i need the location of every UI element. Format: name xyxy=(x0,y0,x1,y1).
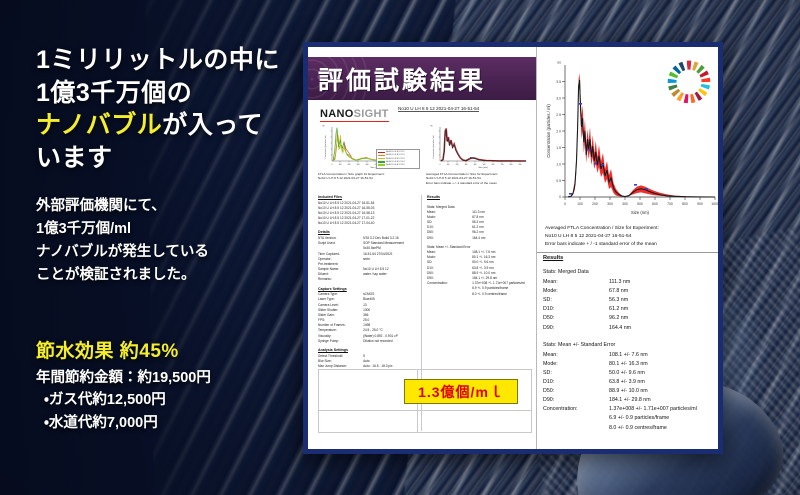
mini2-errorband xyxy=(441,129,526,162)
chart-y-axis-label: Concentration (particles / ml) xyxy=(546,104,551,158)
headline-line-1: 1ミリリットルの中に xyxy=(36,44,301,77)
mini2-y-exponent: E6 xyxy=(431,126,433,128)
chart-x-axis-label: Size (nm) xyxy=(631,210,650,215)
mini-charts-row: E6 Size (nm) Concentration (particles / … xyxy=(318,123,530,183)
detail-result-row-concentration: Concentration:1.37e+008 +/- 1.71e+007 pa… xyxy=(543,405,723,414)
svg-text:400: 400 xyxy=(622,202,628,206)
savings-water: ・水道代約7,000円 xyxy=(36,412,316,434)
detail-results-body: Stats: Merged Data Mean:111.3 nm Mode:67… xyxy=(543,269,723,433)
detail-row: Remarks: xyxy=(318,277,416,282)
subcopy-line-4: ことが検証されました。 xyxy=(36,264,301,287)
detail-result-row: D90:164.4 nm xyxy=(543,324,723,333)
legend-label: No10 U LH 8 5 12-1 xyxy=(386,151,404,153)
section-included-files-title: Included Files xyxy=(318,195,416,199)
svg-text:900: 900 xyxy=(697,202,703,206)
svg-text:3.0: 3.0 xyxy=(556,96,561,100)
savings-title: 節水効果 約45% xyxy=(36,336,316,363)
section-results-title: Results xyxy=(427,195,525,199)
legend-label: No10 U LH 8 5 12-5 xyxy=(386,164,404,166)
result-row: 8.0 +/- 0.9 centres/frame xyxy=(427,292,525,297)
detail-result-row: D50:96.2 nm xyxy=(543,314,723,323)
savings-gas: ・ガス代約12,500円 xyxy=(36,389,316,411)
headline-line-4: います xyxy=(36,142,301,175)
legend-label: No10 U LH 8 5 12-2 xyxy=(386,154,404,156)
headline-line-2: 1億3千万個の xyxy=(36,77,301,110)
mini-chart-legend: No10 U LH 8 5 12-1 No10 U LH 8 5 12-2 No… xyxy=(376,149,420,169)
main-caption-line1: Averaged FTLA Concentration / Size for E… xyxy=(545,225,723,233)
svg-text:900: 900 xyxy=(519,164,522,166)
svg-text:100: 100 xyxy=(577,202,583,206)
detail-se-title: Stats: Mean +/- Standard Error xyxy=(543,342,723,348)
section-capture-settings-title: Capture Settings xyxy=(318,287,416,291)
mini-chart-averaged-svg: E6 Size (nm) Concentration (particles / … xyxy=(426,123,530,171)
result-row: D90:164.4 nm xyxy=(427,236,525,241)
mini-chart-per-capture: E6 Size (nm) Concentration (particles / … xyxy=(318,123,422,183)
main-caption-line3: Error bars indicate + / -1 standard erro… xyxy=(545,241,723,249)
mini2-caption-line3: Error bars indicate + / -1 standard erro… xyxy=(426,181,530,185)
mini2-mean-line xyxy=(441,130,526,161)
subcopy-line-2: 1億3千万個/ml xyxy=(36,218,301,241)
detail-result-row: 8.0 +/- 0.9 centres/frame xyxy=(543,424,723,433)
mini-chart-per-capture-caption: FTLA Concentration / Size graph for Expe… xyxy=(318,172,422,181)
headline-accent-nanobubble: ナノバブル xyxy=(36,111,162,139)
svg-text:100: 100 xyxy=(447,164,450,166)
svg-text:200: 200 xyxy=(456,164,459,166)
svg-text:0: 0 xyxy=(564,202,566,206)
svg-text:600: 600 xyxy=(492,164,495,166)
logo-text-sight: SIGHT xyxy=(354,108,389,120)
detail-divider xyxy=(537,252,718,253)
section-analysis-settings-title: Analysis Settings xyxy=(318,348,416,352)
savings-annual: 年間節約金額：約19,500円 xyxy=(36,367,316,389)
slide-canvas: 1ミリリットルの中に 1億3千万個の ナノバブルが入って います 外部評価機関に… xyxy=(0,0,800,495)
detail-result-row: Mean:108.1 +/- 7.6 nm xyxy=(543,351,723,360)
section-details-title: Details xyxy=(318,230,416,234)
report-banner: 評価試験結果 xyxy=(308,57,536,100)
svg-text:300: 300 xyxy=(607,202,613,206)
savings-block: 節水効果 約45% 年間節約金額：約19,500円 ・ガス代約12,500円 ・… xyxy=(36,336,316,434)
detail-result-row: D10:63.8 +/- 3.9 nm xyxy=(543,378,723,387)
chart-y-exponent: E6 xyxy=(557,61,561,65)
mini1-y-exponent: E6 xyxy=(323,126,325,128)
headline: 1ミリリットルの中に 1億3千万個の ナノバブルが入って います xyxy=(36,44,301,174)
headline-line-3: ナノバブルが入って xyxy=(36,109,301,142)
report-sheet-full: 評価試験結果 NANOSIGHT No10 U LH 8 5 12 2021-0… xyxy=(308,47,537,449)
included-file-row: No10 U LH 8 5 12 2021-04-27 17-04-40 xyxy=(318,221,416,226)
detail-row: Script Used:SOP Standard Measurement 5x3… xyxy=(318,241,416,251)
main-chart-caption: Averaged FTLA Concentration / Size for E… xyxy=(545,225,723,249)
sdg-wheel-icon xyxy=(666,59,712,105)
svg-text:600: 600 xyxy=(652,202,658,206)
subcopy-line-3: ナノバブルが発生している xyxy=(36,241,301,264)
svg-text:2.5: 2.5 xyxy=(556,113,561,117)
legend-item: No10 U LH 8 5 12-5 xyxy=(378,164,418,167)
svg-text:700: 700 xyxy=(501,164,504,166)
svg-text:0: 0 xyxy=(440,164,441,166)
svg-text:200: 200 xyxy=(348,164,351,166)
svg-text:1.5: 1.5 xyxy=(556,146,561,150)
detail-result-row: Mode:67.8 nm xyxy=(543,287,723,296)
main-caption-line2: No10 U LH 8 5 12 2021-04-27 16-51-54 xyxy=(545,233,723,241)
svg-text:0.5: 0.5 xyxy=(556,179,561,183)
detail-result-row: 6.9 +/- 0.9 particles/frame xyxy=(543,414,723,423)
concentration-highlight-box: 1.3億個/mｌ xyxy=(404,379,518,404)
svg-text:200: 200 xyxy=(592,202,598,206)
mini-chart-averaged: E6 Size (nm) Concentration (particles / … xyxy=(426,123,530,183)
detail-result-row: Mean:111.3 nm xyxy=(543,278,723,287)
svg-text:0: 0 xyxy=(332,164,333,166)
svg-text:800: 800 xyxy=(510,164,513,166)
evaluation-report-panel: 評価試験結果 NANOSIGHT No10 U LH 8 5 12 2021-0… xyxy=(303,42,723,454)
report-file-id: No10 U LH 8 5 12 2021-04-27 16-51-54 xyxy=(398,106,479,112)
svg-text:500: 500 xyxy=(483,164,486,166)
svg-text:400: 400 xyxy=(474,164,477,166)
mini1-caption-line2: No10 U LH 8 5 12 2021-04-27 16-51-54 xyxy=(318,176,422,180)
report-banner-title: 評価試験結果 xyxy=(308,61,486,97)
headline-block: 1ミリリットルの中に 1億3千万個の ナノバブルが入って います 外部評価機関に… xyxy=(36,44,301,287)
svg-text:2.0: 2.0 xyxy=(556,129,561,133)
mini1-y-axis-label: Concentration (particles / ml) xyxy=(324,135,327,158)
svg-text:300: 300 xyxy=(357,164,360,166)
headline-line-3-rest: が入って xyxy=(162,111,263,139)
nanosight-logo: NANOSIGHT xyxy=(320,108,389,122)
detail-result-row: D50:88.9 +/- 10.0 nm xyxy=(543,387,723,396)
svg-text:800: 800 xyxy=(682,202,688,206)
svg-text:100: 100 xyxy=(339,164,342,166)
legend-label: No10 U LH 8 5 12-4 xyxy=(386,161,404,163)
mini2-x-axis-label: Size (nm) xyxy=(478,167,488,169)
svg-text:0: 0 xyxy=(559,195,561,199)
svg-text:700: 700 xyxy=(667,202,673,206)
svg-text:300: 300 xyxy=(465,164,468,166)
detail-result-row: D10:61.2 nm xyxy=(543,305,723,314)
mini2-error-markers xyxy=(445,135,475,158)
detail-result-row: D90:184.1 +/- 29.8 nm xyxy=(543,396,723,405)
mini2-y-axis-label: Concentration (particles / ml) xyxy=(432,135,435,158)
detail-merged-title: Stats: Merged Data xyxy=(543,269,723,275)
svg-text:400: 400 xyxy=(366,164,369,166)
svg-text:1000: 1000 xyxy=(711,202,719,206)
subcopy-line-1: 外部評価機関にて、 xyxy=(36,195,301,218)
mini2-x-ticks: 0100200 300400500 600700800 900 xyxy=(440,164,522,166)
capture-row: Syringe Pump:Dilution not recorded xyxy=(318,339,416,344)
nanosight-header: NANOSIGHT No10 U LH 8 5 12 2021-04-27 16… xyxy=(320,104,528,122)
report-detail-page: E6 00.5 1.01.5 2.02.5 3.03.5 0100200 300… xyxy=(537,47,718,449)
logo-text-nano: NANO xyxy=(320,108,354,120)
mini-chart-averaged-caption: Averaged FTLA Concentration / Size for E… xyxy=(426,172,530,185)
svg-text:500: 500 xyxy=(637,202,643,206)
legend-label: No10 U LH 8 5 12-3 xyxy=(386,158,404,160)
concentration-highlight-value: 1.3億個/mｌ xyxy=(418,382,504,402)
included-file: No10 U LH 8 5 12 2021-04-27 17-04-40 xyxy=(318,221,416,226)
detail-results-title: Results xyxy=(543,255,563,261)
detail-result-row: Mode:80.1 +/- 16.3 nm xyxy=(543,360,723,369)
detail-result-row: SD:56.3 nm xyxy=(543,296,723,305)
svg-text:1.0: 1.0 xyxy=(556,162,561,166)
svg-text:3.5: 3.5 xyxy=(556,80,561,84)
subcopy: 外部評価機関にて、 1億3千万個/ml ナノバブルが発生している ことが検証され… xyxy=(36,195,301,287)
detail-result-row: SD:50.0 +/- 9.6 nm xyxy=(543,369,723,378)
